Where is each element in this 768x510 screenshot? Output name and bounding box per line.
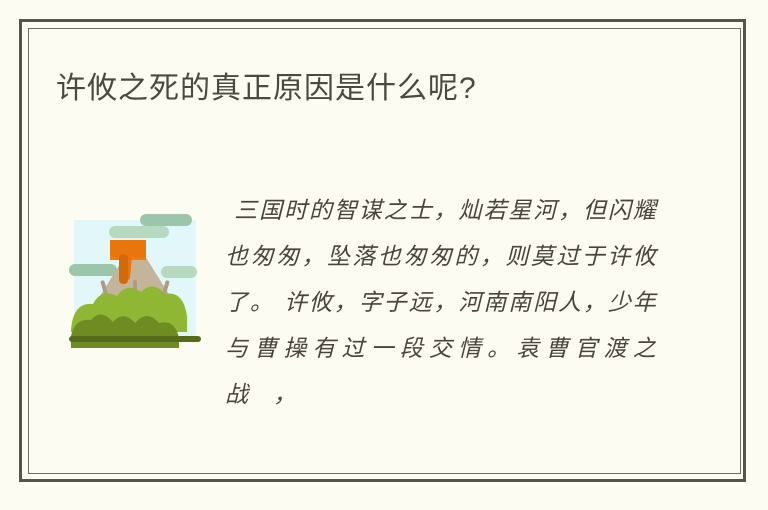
page-title: 许攸之死的真正原因是什么呢? [56, 69, 477, 109]
volcano-illustration [61, 202, 209, 350]
volcano-icon [61, 202, 209, 350]
article-content: 许攸之死的真正原因是什么呢? [28, 28, 741, 474]
article-paragraph: 三国时的智谋之士，灿若星河，但闪耀也匆匆，坠落也匆匆的，则莫过于许攸了。 许攸，… [225, 188, 657, 418]
article-page: 许攸之死的真正原因是什么呢? [0, 0, 768, 510]
article-body: 三国时的智谋之士，灿若星河，但闪耀也匆匆，坠落也匆匆的，则莫过于许攸了。 许攸，… [28, 188, 741, 388]
